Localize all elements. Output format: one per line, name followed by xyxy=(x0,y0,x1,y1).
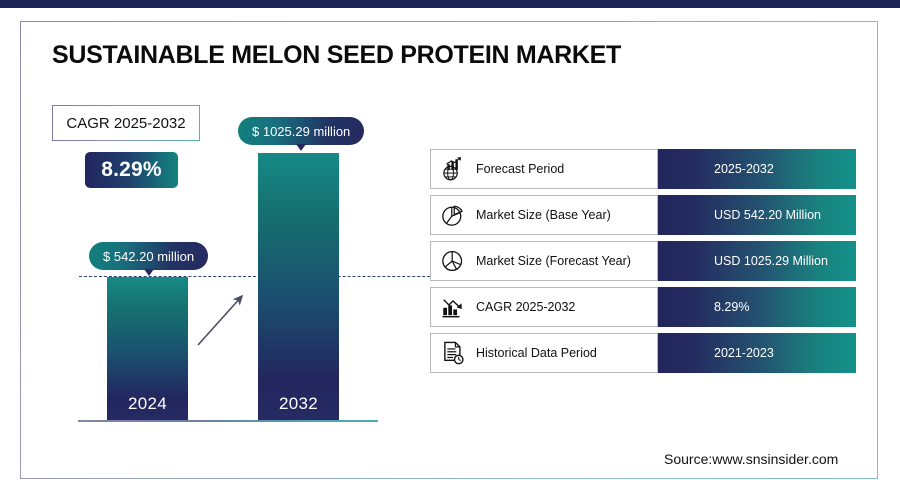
value-pill-2032: $ 1025.29 million xyxy=(238,117,364,145)
table-label-text: CAGR 2025-2032 xyxy=(476,300,575,314)
bar-label-2032: 2032 xyxy=(258,394,339,414)
table-value-cell: USD 1025.29 Million xyxy=(658,241,856,281)
table-label-text: Market Size (Base Year) xyxy=(476,208,611,222)
table-row: Market Size (Forecast Year) USD 1025.29 … xyxy=(430,241,856,281)
growth-arrow-icon xyxy=(185,280,265,360)
table-label-cell: CAGR 2025-2032 xyxy=(430,287,658,327)
table-row: Market Size (Base Year) USD 542.20 Milli… xyxy=(430,195,856,235)
globe-growth-chart-icon xyxy=(440,156,466,182)
table-label-text: Forecast Period xyxy=(476,162,564,176)
value-pill-2024: $ 542.20 million xyxy=(89,242,208,270)
table-value-cell: 2025-2032 xyxy=(658,149,856,189)
table-label-text: Historical Data Period xyxy=(476,346,597,360)
table-row: Historical Data Period 2021-2023 xyxy=(430,333,856,373)
table-label-text: Market Size (Forecast Year) xyxy=(476,254,631,268)
table-label-cell: Market Size (Forecast Year) xyxy=(430,241,658,281)
bar-label-2024: 2024 xyxy=(107,394,188,414)
pie-chart-exploded-icon xyxy=(440,202,466,228)
source-credit: Source:www.snsinsider.com xyxy=(664,451,838,467)
table-label-cell: Historical Data Period xyxy=(430,333,658,373)
table-label-cell: Forecast Period xyxy=(430,149,658,189)
chart-axis-line xyxy=(78,420,378,422)
pie-chart-segments-icon xyxy=(440,248,466,274)
table-row: Forecast Period 2025-2032 xyxy=(430,149,856,189)
table-label-cell: Market Size (Base Year) xyxy=(430,195,658,235)
infographic-root: SUSTAINABLE MELON SEED PROTEIN MARKET CA… xyxy=(0,0,900,500)
table-value-cell: USD 542.20 Million xyxy=(658,195,856,235)
document-clock-icon xyxy=(440,340,466,366)
table-row: CAGR 2025-2032 8.29% xyxy=(430,287,856,327)
bar-2032 xyxy=(258,153,339,420)
summary-table: Forecast Period 2025-2032 Market Size (B… xyxy=(430,149,856,373)
bar-chart: 2024 2032 $ 542.20 million $ 1025.29 mil… xyxy=(0,0,420,500)
table-value-cell: 8.29% xyxy=(658,287,856,327)
table-value-cell: 2021-2023 xyxy=(658,333,856,373)
bar-chart-trend-icon xyxy=(440,294,466,320)
